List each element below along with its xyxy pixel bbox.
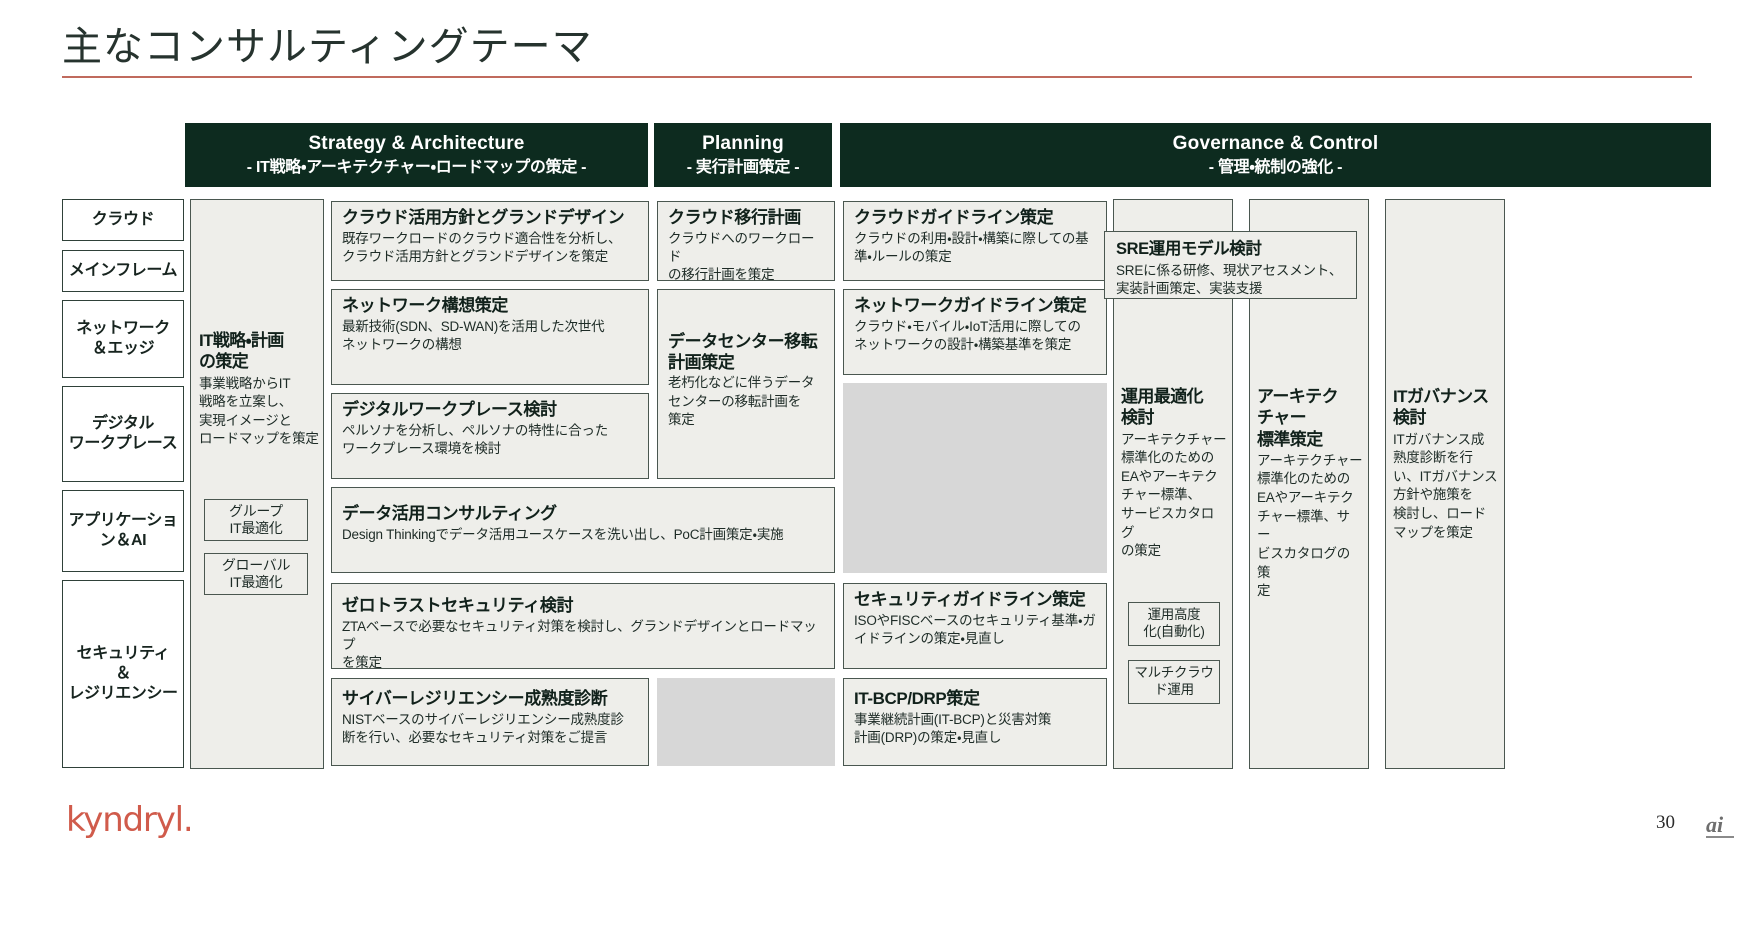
governance-card-cloud-guideline[interactable]: クラウドガイドライン策定 クラウドの利用・設計・構築に際しての基 準・ルールの策… (843, 201, 1107, 281)
planning-card-cloud-migration-title: クラウド移行計画 (668, 208, 824, 229)
strategy-card-zero-trust-title: ゼロトラストセキュリティ検討 (342, 596, 824, 617)
strategy-card-digital-workplace-title: デジタルワークプレース検討 (342, 400, 638, 421)
planning-card-cloud-migration-desc: クラウドへのワークロード の移行計画を策定 (668, 230, 824, 284)
strategy-lead-title: IT戦略・計画 の策定 (199, 330, 319, 373)
category-cloud-label: クラウド (92, 210, 154, 230)
section-header-governance-ja: - 管理・統制の強化 - (1209, 158, 1342, 178)
strategy-subbox-global-it[interactable]: グローバル IT最適化 (204, 553, 308, 595)
governance-card-security-guideline-desc: ISOやFISCベースのセキュリティ基準・ガ イドラインの策定・見直し (854, 612, 1096, 648)
category-digital-workplace[interactable]: デジタル ワークプレース (62, 386, 184, 482)
section-header-strategy: Strategy & Architecture - IT戦略・アーキテクチャー・… (185, 123, 648, 187)
governance-card-itbcp-drp-title: IT-BCP/DRP策定 (854, 689, 1096, 710)
governance-card-itbcp-drp[interactable]: IT-BCP/DRP策定 事業継続計画(IT-BCP)と災害対策 計画(DRP)… (843, 678, 1107, 766)
section-header-governance-en: Governance & Control (1173, 132, 1379, 156)
category-network-edge[interactable]: ネットワーク ＆エッジ (62, 300, 184, 378)
governance-card-cloud-guideline-title: クラウドガイドライン策定 (854, 208, 1096, 229)
sre-operating-model-card[interactable]: SRE運用モデル検討 SREに係る研修、現状アセスメント、 実装計画策定、実装支… (1104, 231, 1357, 299)
strategy-placeholder-block (657, 678, 835, 766)
strategy-card-data-consulting-title: データ活用コンサルティング (342, 504, 824, 525)
governance-card-cloud-guideline-desc: クラウドの利用・設計・構築に際しての基 準・ルールの策定 (854, 230, 1096, 266)
strategy-card-cloud-policy[interactable]: クラウド活用方針とグランドデザイン 既存ワークロードのクラウド適合性を分析し、 … (331, 201, 649, 281)
governance-subbox-ops-automation[interactable]: 運用高度 化(自動化) (1128, 602, 1220, 646)
strategy-card-cloud-policy-title: クラウド活用方針とグランドデザイン (342, 208, 638, 229)
governance-card-security-guideline-title: セキュリティガイドライン策定 (854, 590, 1096, 611)
section-header-planning: Planning - 実行計画策定 - (654, 123, 832, 187)
governance-column-architecture-standard-desc: アーキテクチャー 標準化のための EAやアーキテク チャー標準、サー ビスカタロ… (1257, 452, 1363, 601)
planning-card-cloud-migration[interactable]: クラウド移行計画 クラウドへのワークロード の移行計画を策定 (657, 201, 835, 281)
sre-operating-model-title: SRE運用モデル検討 (1116, 239, 1345, 260)
ai-watermark: ai (1706, 812, 1723, 838)
governance-column-ops-optimization-title: 運用最適化 検討 (1121, 386, 1227, 429)
governance-subbox-multicloud-ops[interactable]: マルチクラウ ド運用 (1128, 660, 1220, 704)
governance-column-architecture-standard-title: アーキテク チャー 標準策定 (1257, 386, 1363, 450)
strategy-card-data-consulting[interactable]: データ活用コンサルティング Design Thinkingでデータ活用ユースケー… (331, 487, 835, 573)
governance-card-network-guideline[interactable]: ネットワークガイドライン策定 クラウド・モバイル・IoT活用に際しての ネットワ… (843, 289, 1107, 375)
category-mainframe[interactable]: メインフレーム (62, 250, 184, 292)
strategy-card-cyber-resiliency[interactable]: サイバーレジリエンシー成熟度診断 NISTベースのサイバーレジリエンシー成熟度診… (331, 678, 649, 766)
governance-column-ops-optimization-content: 運用最適化 検討 アーキテクチャー 標準化のための EAやアーキテク チャー標準… (1121, 386, 1227, 561)
kyndryl-logo-text: kyndryl (66, 800, 183, 840)
governance-column-architecture-standard-content: アーキテク チャー 標準策定 アーキテクチャー 標準化のための EAやアーキテク… (1257, 386, 1363, 601)
category-application-ai[interactable]: アプリケーショ ン＆AI (62, 490, 184, 572)
governance-subbox-multicloud-ops-label: マルチクラウ ド運用 (1134, 665, 1213, 699)
sre-operating-model-desc: SREに係る研修、現状アセスメント、 実装計画策定、実装支援 (1116, 262, 1345, 299)
category-security-resiliency[interactable]: セキュリティ ＆ レジリエンシー (62, 580, 184, 768)
strategy-card-cloud-policy-desc: 既存ワークロードのクラウド適合性を分析し、 クラウド活用方針とグランドデザインを… (342, 230, 638, 266)
ai-watermark-rule (1706, 836, 1734, 838)
strategy-card-network-concept-desc: 最新技術(SDN、SD-WAN)を活用した次世代 ネットワークの構想 (342, 318, 638, 354)
category-digital-workplace-label: デジタル ワークプレース (69, 414, 177, 454)
governance-column-it-governance-desc: ITガバナンス成 熟度診断を行 い、ITガバナンス 方針や施策を 検討し、ロード… (1393, 431, 1499, 543)
governance-subbox-ops-automation-label: 運用高度 化(自動化) (1143, 607, 1204, 641)
kyndryl-logo: kyndryl. (66, 800, 193, 840)
planning-card-datacenter-relocation[interactable]: データセンター移転 計画策定 老朽化などに伴うデータ センターの移転計画を 策定 (657, 289, 835, 479)
category-mainframe-label: メインフレーム (69, 261, 177, 281)
governance-card-itbcp-drp-desc: 事業継続計画(IT-BCP)と災害対策 計画(DRP)の策定・見直し (854, 711, 1096, 747)
category-network-edge-label: ネットワーク ＆エッジ (76, 319, 170, 359)
page-number: 30 (1656, 812, 1675, 834)
governance-column-it-governance-content: ITガバナンス 検討 ITガバナンス成 熟度診断を行 い、ITガバナンス 方針や… (1393, 386, 1499, 542)
section-header-planning-en: Planning (702, 132, 784, 156)
kyndryl-logo-dot: . (183, 800, 193, 840)
section-header-planning-ja: - 実行計画策定 - (687, 158, 800, 178)
planning-card-datacenter-relocation-desc: 老朽化などに伴うデータ センターの移転計画を 策定 (668, 374, 824, 428)
category-cloud[interactable]: クラウド (62, 199, 184, 241)
governance-column-ops-optimization-desc: アーキテクチャー 標準化のための EAやアーキテク チャー標準、 サービスカタロ… (1121, 431, 1227, 561)
strategy-card-data-consulting-desc: Design Thinkingでデータ活用ユースケースを洗い出し、PoC計画策定… (342, 526, 824, 544)
strategy-lead-panel (190, 199, 324, 769)
governance-card-network-guideline-title: ネットワークガイドライン策定 (854, 296, 1096, 317)
strategy-card-zero-trust[interactable]: ゼロトラストセキュリティ検討 ZTAベースで必要なセキュリティ対策を検討し、グラ… (331, 583, 835, 669)
page-title: 主なコンサルティングテーマ (62, 14, 593, 72)
section-header-strategy-en: Strategy & Architecture (308, 132, 524, 156)
planning-card-datacenter-relocation-title: データセンター移転 計画策定 (668, 332, 824, 373)
strategy-card-cyber-resiliency-title: サイバーレジリエンシー成熟度診断 (342, 689, 638, 710)
strategy-subbox-global-it-label: グローバル IT最適化 (222, 557, 290, 592)
section-header-governance: Governance & Control - 管理・統制の強化 - (840, 123, 1711, 187)
strategy-subbox-group-it[interactable]: グループ IT最適化 (204, 499, 308, 541)
governance-card-security-guideline[interactable]: セキュリティガイドライン策定 ISOやFISCベースのセキュリティ基準・ガ イド… (843, 583, 1107, 669)
strategy-card-digital-workplace-desc: ペルソナを分析し、ペルソナの特性に合った ワークプレース環境を検討 (342, 422, 638, 458)
strategy-card-digital-workplace[interactable]: デジタルワークプレース検討 ペルソナを分析し、ペルソナの特性に合った ワークプレ… (331, 393, 649, 479)
strategy-subbox-group-it-label: グループ IT最適化 (229, 503, 283, 538)
strategy-card-zero-trust-desc: ZTAベースで必要なセキュリティ対策を検討し、グランドデザインとロードマップ を… (342, 618, 824, 672)
title-underline-rule (62, 76, 1692, 78)
strategy-card-network-concept[interactable]: ネットワーク構想策定 最新技術(SDN、SD-WAN)を活用した次世代 ネットワ… (331, 289, 649, 385)
strategy-card-network-concept-title: ネットワーク構想策定 (342, 296, 638, 317)
category-application-ai-label: アプリケーショ ン＆AI (69, 511, 178, 551)
strategy-lead-desc: 事業戦略からIT 戦略を立案し、 実現イメージと ロードマップを策定 (199, 375, 319, 450)
section-header-strategy-ja: - IT戦略・アーキテクチャー・ロードマップの策定 - (247, 158, 586, 178)
governance-placeholder-block (843, 383, 1107, 573)
category-security-resiliency-label: セキュリティ ＆ レジリエンシー (68, 644, 177, 704)
strategy-card-cyber-resiliency-desc: NISTベースのサイバーレジリエンシー成熟度診 断を行い、必要なセキュリティ対策… (342, 711, 638, 747)
governance-card-network-guideline-desc: クラウド・モバイル・IoT活用に際しての ネットワークの設計・構築基準を策定 (854, 318, 1096, 354)
governance-column-it-governance-title: ITガバナンス 検討 (1393, 386, 1499, 429)
strategy-lead-content: IT戦略・計画 の策定 事業戦略からIT 戦略を立案し、 実現イメージと ロード… (199, 330, 319, 449)
